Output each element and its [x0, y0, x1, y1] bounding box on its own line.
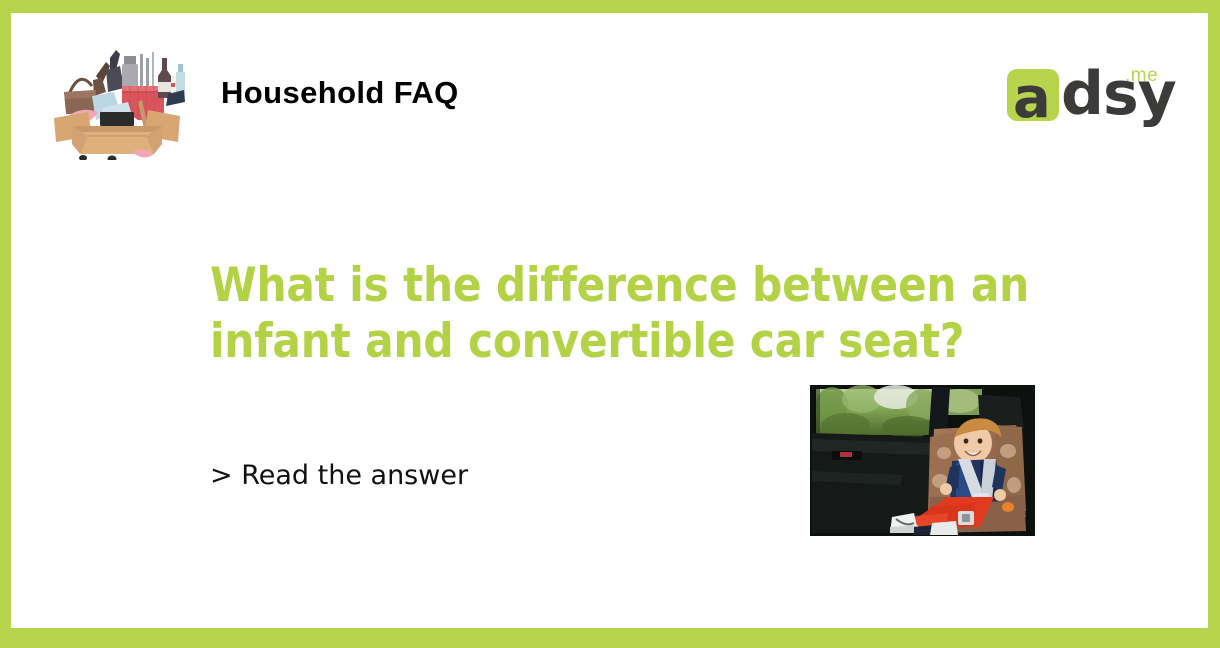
- household-box-icon: [50, 40, 185, 160]
- read-the-answer-link[interactable]: > Read the answer: [210, 460, 468, 491]
- page-title: Household FAQ: [221, 75, 459, 111]
- frame-border-top: [0, 0, 1220, 13]
- logo-wordmark: dsy: [1061, 61, 1176, 127]
- header: Household FAQ a dsy .me: [11, 13, 1208, 153]
- logo-mark-letter: a: [1013, 73, 1051, 125]
- logo-tld: .me: [1125, 65, 1158, 87]
- frame-border-bottom: [0, 628, 1220, 648]
- frame-border-left: [0, 0, 11, 648]
- main-content: What is the difference between an infant…: [11, 153, 1208, 628]
- faq-question-headline: What is the difference between an infant…: [210, 258, 1100, 370]
- adsy-logo[interactable]: a dsy .me: [1007, 55, 1167, 133]
- faq-promo-card: Household FAQ a dsy .me What is the diff…: [0, 0, 1220, 648]
- frame-border-right: [1208, 0, 1220, 648]
- car-seat-photo: [810, 385, 1035, 536]
- logo-a-tile: a: [1007, 69, 1059, 121]
